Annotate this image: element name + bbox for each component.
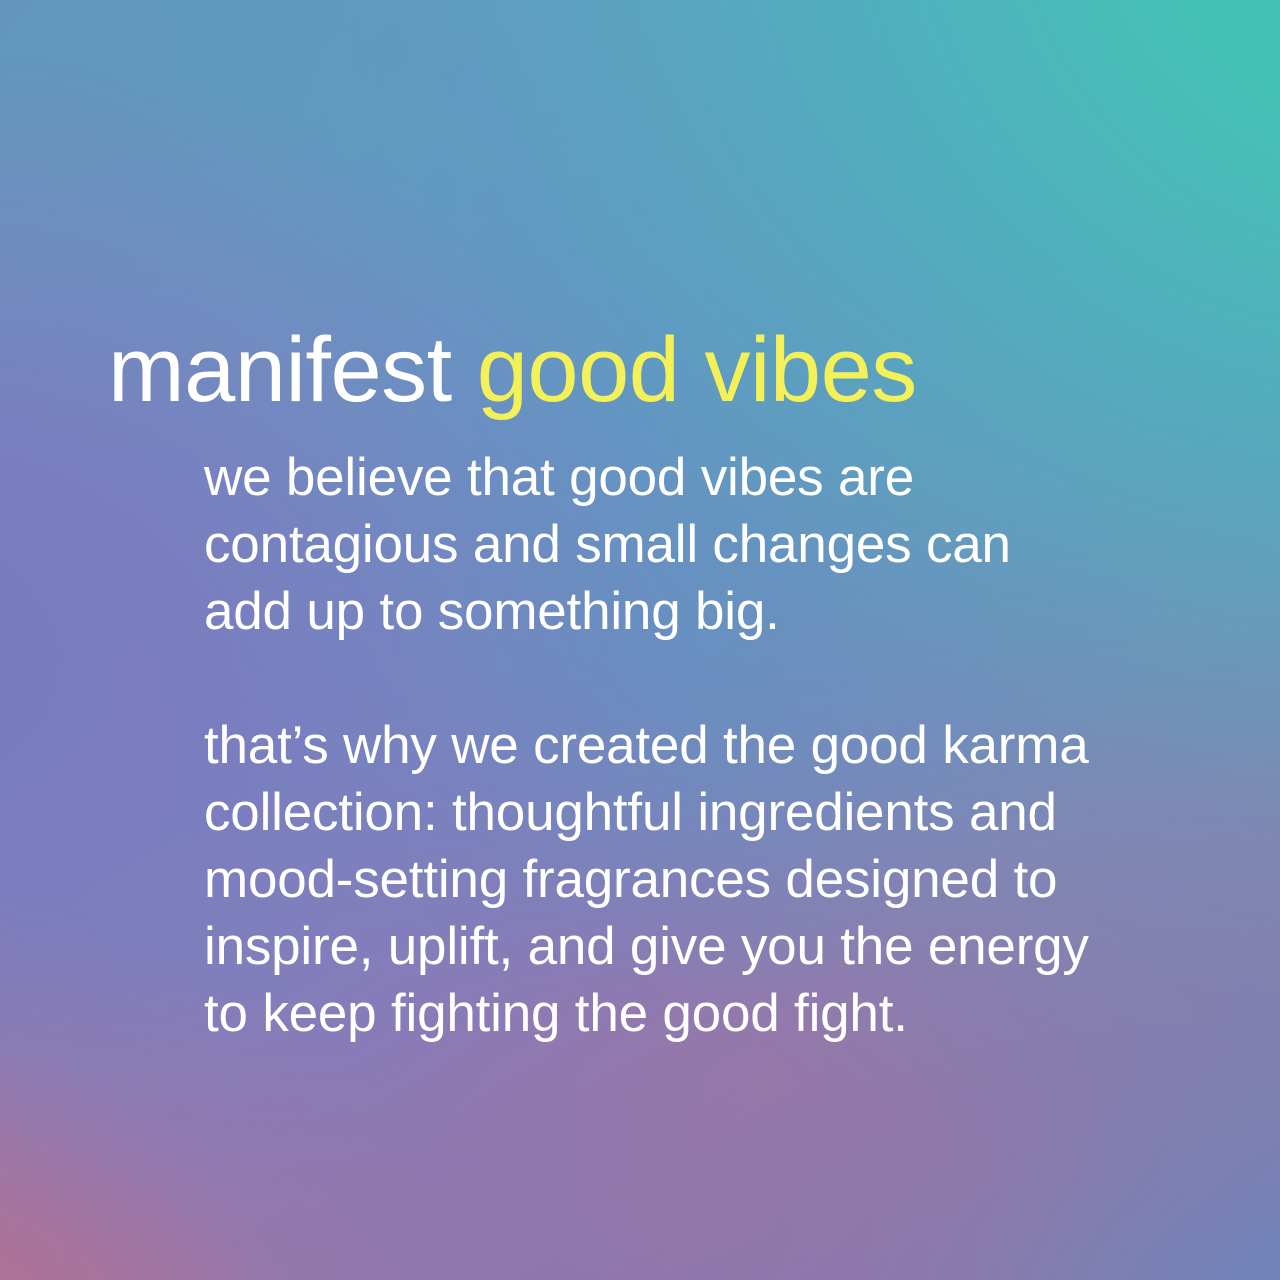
content-area: manifest good vibes we believe that good…: [0, 0, 1280, 1280]
body-paragraph-1: we believe that good vibes are contagiou…: [204, 444, 1124, 645]
body-paragraph-2: that’s why we created the good karma col…: [204, 712, 1124, 1047]
body-copy: we believe that good vibes are contagiou…: [204, 444, 1124, 1047]
page-title: manifest good vibes: [108, 324, 917, 416]
headline-accent-text: good vibes: [477, 319, 917, 421]
headline-lead-text: manifest: [108, 319, 477, 421]
promo-graphic: manifest good vibes we believe that good…: [0, 0, 1280, 1280]
